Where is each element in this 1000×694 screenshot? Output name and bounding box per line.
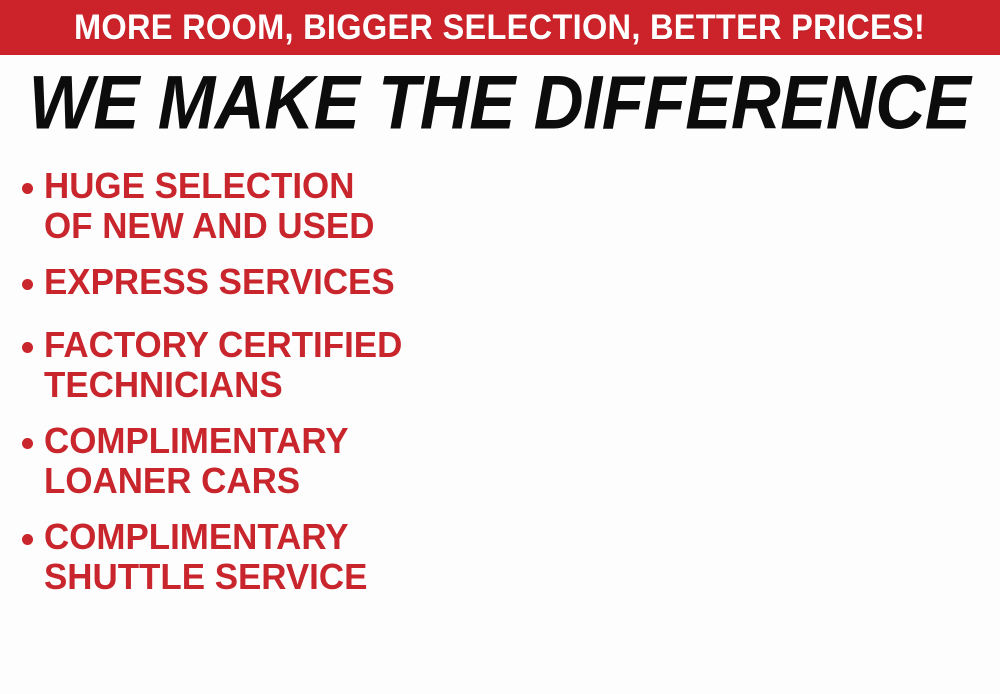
bullet-dot-icon: [22, 342, 33, 353]
list-item: COMPLIMENTARY LOANER CARS: [22, 421, 358, 501]
bullet-dot-icon: [22, 279, 33, 290]
bullet-dot-icon: [22, 438, 33, 449]
benefits-column-right: 72 HOUR EXCHANGE POLICY HOME DELIVERY CU…: [500, 152, 1000, 694]
list-item-label: COMPLIMENTARY SHUTTLE SERVICE: [44, 517, 367, 597]
list-item-label: EXPRESS SERVICES: [44, 262, 395, 302]
promo-poster: MORE ROOM, BIGGER SELECTION, BETTER PRIC…: [0, 0, 1000, 694]
list-item-label: COMPLIMENTARY LOANER CARS: [44, 421, 349, 501]
benefits-column-left: HUGE SELECTION OF NEW AND USED EXPRESS S…: [0, 152, 500, 694]
list-item-label: FACTORY CERTIFIED TECHNICIANS: [44, 325, 402, 405]
top-banner: MORE ROOM, BIGGER SELECTION, BETTER PRIC…: [0, 0, 1000, 55]
bullet-dot-icon: [22, 534, 33, 545]
page-title: WE MAKE THE DIFFERENCE: [29, 65, 971, 141]
bullet-dot-icon: [22, 183, 33, 194]
list-item-label: HUGE SELECTION OF NEW AND USED: [44, 166, 374, 246]
list-item: EXPRESS SERVICES: [22, 262, 405, 302]
benefits-columns: HUGE SELECTION OF NEW AND USED EXPRESS S…: [0, 152, 1000, 694]
banner-headline-text: MORE ROOM, BIGGER SELECTION, BETTER PRIC…: [74, 10, 925, 45]
list-item: HUGE SELECTION OF NEW AND USED: [22, 166, 385, 246]
headline-area: WE MAKE THE DIFFERENCE: [0, 62, 1000, 144]
list-item: FACTORY CERTIFIED TECHNICIANS: [22, 325, 413, 405]
list-item: COMPLIMENTARY SHUTTLE SERVICE: [22, 517, 377, 597]
